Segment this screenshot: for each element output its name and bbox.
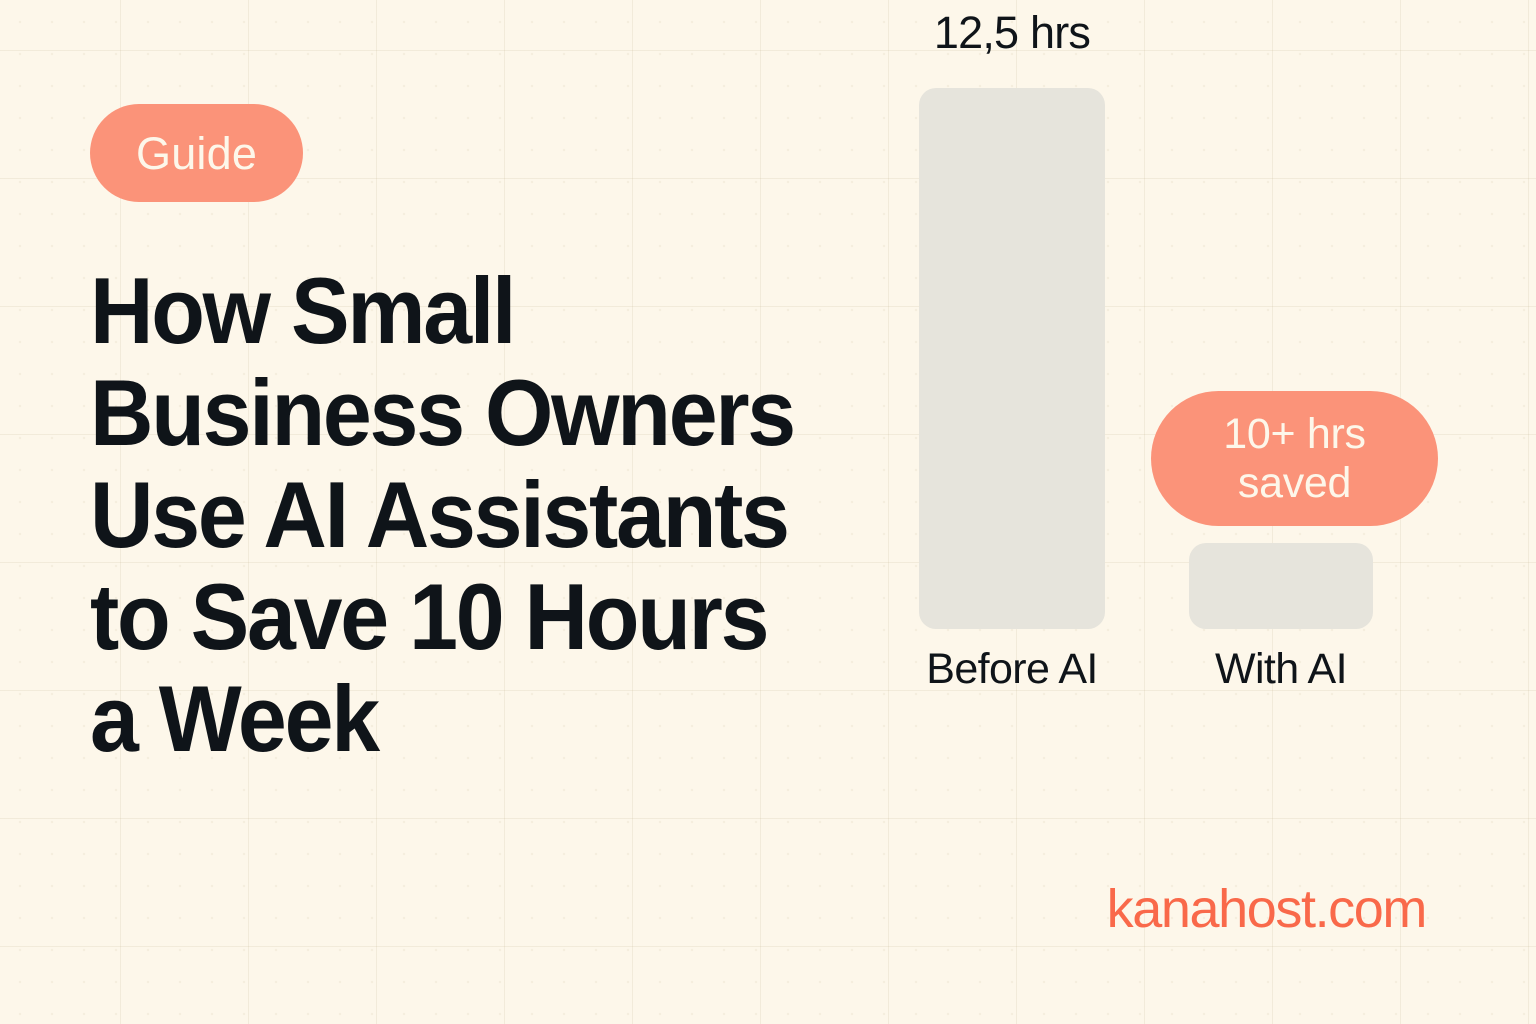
- hours-saved-badge: 10+ hrs saved: [1151, 391, 1438, 526]
- guide-category-pill[interactable]: Guide: [90, 104, 303, 202]
- bar-value-before-ai: 12,5 hrs: [919, 10, 1105, 55]
- headline-column: Guide How Small Business Owners Use AI A…: [90, 104, 890, 833]
- bar-rect-with-ai: [1189, 543, 1373, 629]
- bar-label-before-ai: Before AI: [919, 648, 1105, 691]
- bar-rect-before-ai: [919, 88, 1105, 629]
- hours-saved-badge-label: 10+ hrs saved: [1223, 410, 1366, 506]
- site-url[interactable]: kanahost.com: [1107, 882, 1426, 936]
- page-title: How Small Business Owners Use AI Assista…: [90, 260, 838, 770]
- bar-group-with-ai: 2 hrs With AI: [1189, 543, 1373, 629]
- bar-label-with-ai: With AI: [1189, 648, 1373, 691]
- guide-pill-label: Guide: [136, 131, 257, 176]
- infographic-canvas: Guide How Small Business Owners Use AI A…: [0, 0, 1536, 1024]
- bar-group-before-ai: 12,5 hrs Before AI: [919, 88, 1105, 629]
- comparison-bar-chart: 12,5 hrs Before AI 2 hrs With AI 10+ hrs…: [880, 120, 1480, 900]
